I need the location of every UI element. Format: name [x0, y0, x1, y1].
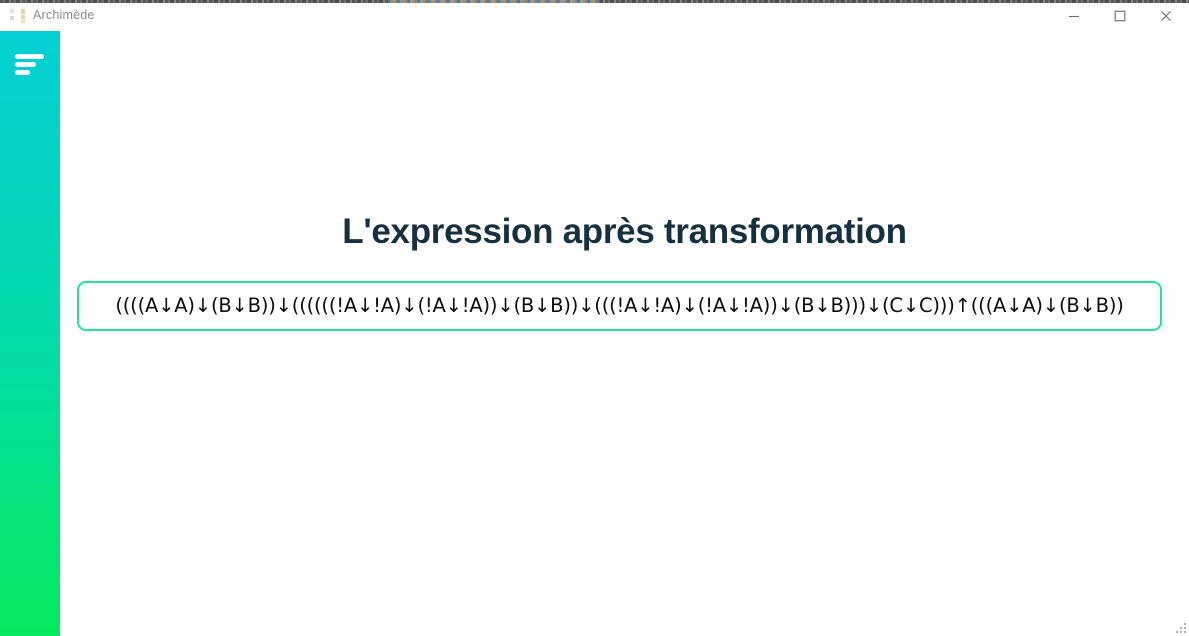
close-button[interactable]: [1143, 0, 1189, 31]
minimize-button[interactable]: [1051, 0, 1097, 31]
page-title: L'expression après transformation: [60, 212, 1189, 252]
expression-text: ((((A↓A)↓(B↓B))↓((((((!A↓!A)↓(!A↓!A))↓(B…: [115, 296, 1123, 316]
main-content: L'expression après transformation ((((A↓…: [60, 31, 1189, 636]
window-title: Archimède: [33, 0, 95, 31]
menu-bar-top: [15, 54, 44, 59]
menu-bar-bottom: [15, 70, 30, 75]
resize-grip[interactable]: [1173, 620, 1186, 633]
sidebar: [0, 31, 60, 636]
title-bar: Archimède: [0, 0, 1189, 31]
menu-bar-middle: [15, 62, 36, 67]
hamburger-menu-icon[interactable]: [15, 53, 45, 77]
application-window: Archimède: [0, 0, 1189, 636]
maximize-button[interactable]: [1097, 0, 1143, 31]
minimize-icon: [1068, 10, 1080, 22]
app-icon: [9, 7, 26, 24]
maximize-icon: [1114, 10, 1126, 22]
expression-result-box[interactable]: ((((A↓A)↓(B↓B))↓((((((!A↓!A)↓(!A↓!A))↓(B…: [77, 281, 1162, 331]
window-controls: [1051, 0, 1189, 31]
close-icon: [1160, 10, 1172, 22]
titlebar-edge-artifact-tinted: [390, 0, 600, 3]
